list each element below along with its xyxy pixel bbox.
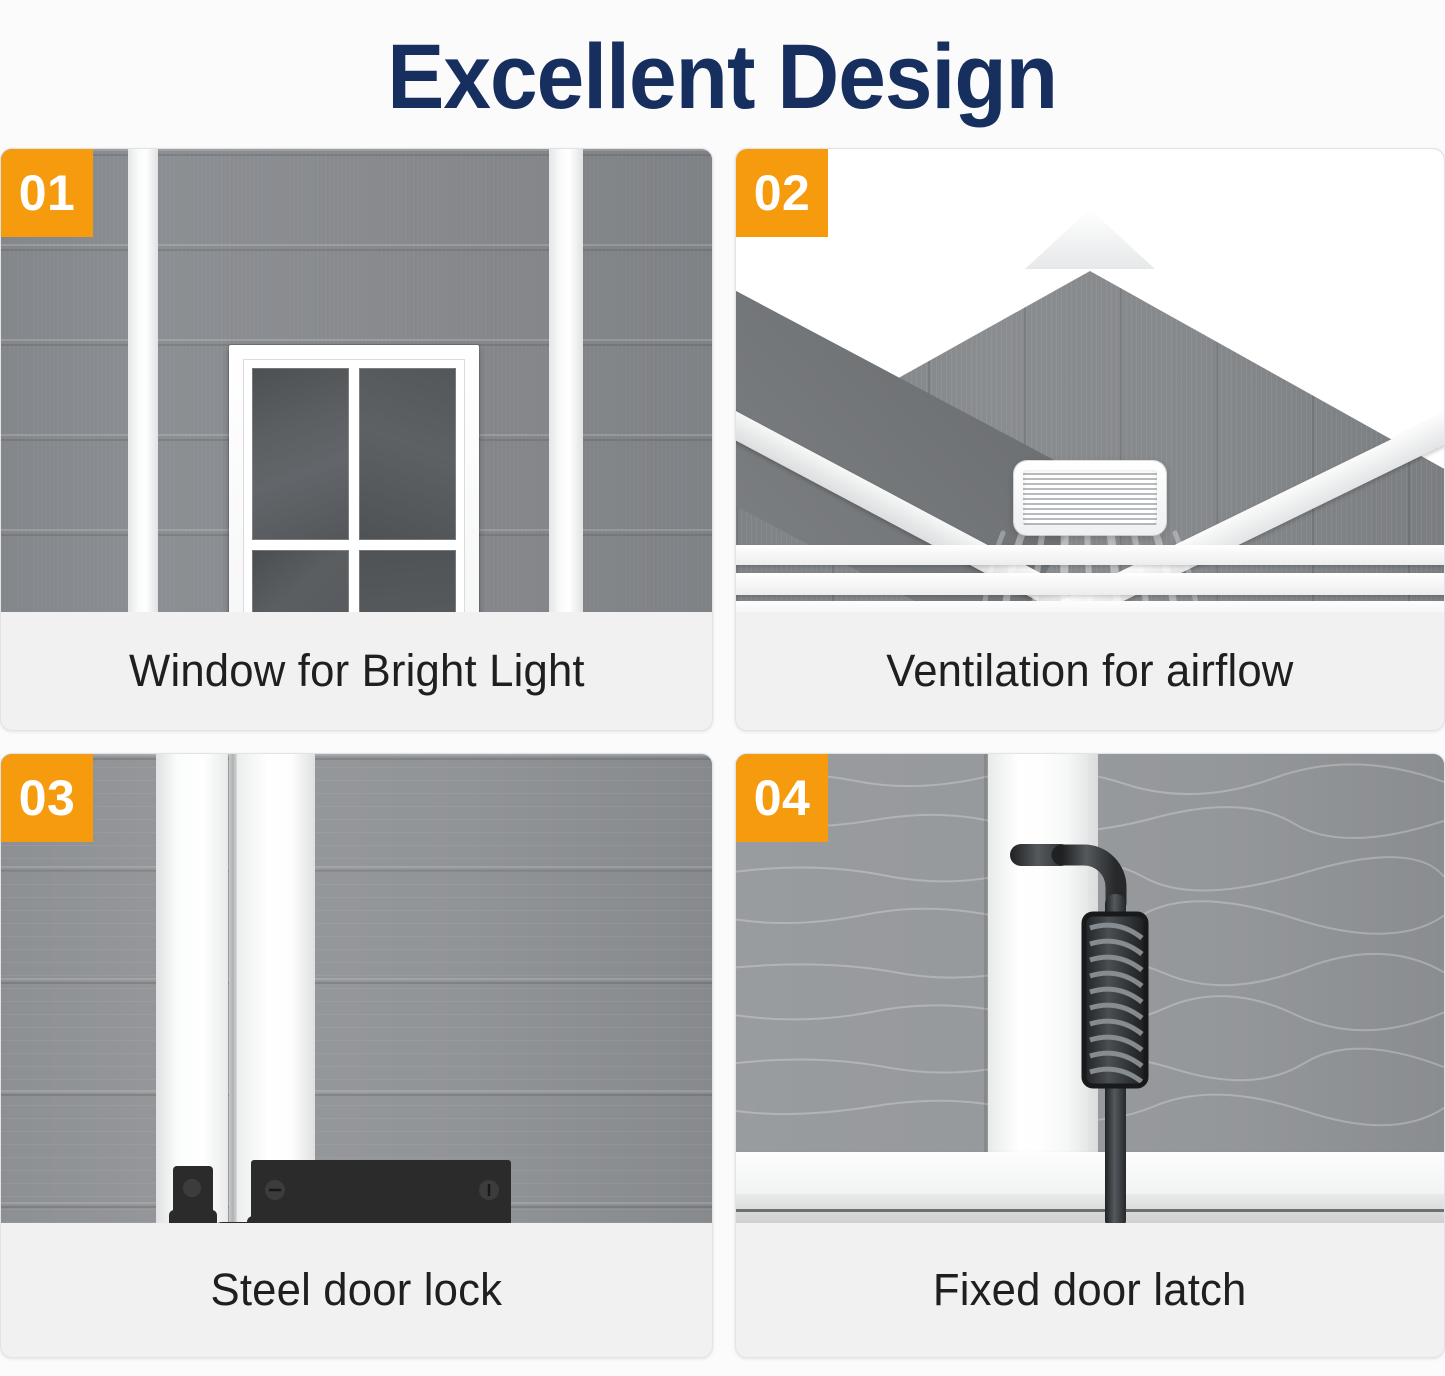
feature-card-02[interactable]: 02 Ventilation for airflow: [735, 148, 1445, 731]
card-04-photo: 04: [736, 754, 1444, 1223]
slide-bolt-lock-icon: [151, 1152, 571, 1223]
card-04-caption-text: Fixed door latch: [933, 1264, 1247, 1316]
window-pane-top-left: [252, 368, 349, 540]
card-02-caption: Ventilation for airflow: [736, 612, 1444, 730]
window-sash: [243, 359, 465, 612]
wall-trim-band-lower: [736, 573, 1444, 595]
card-01-photo: 01: [1, 149, 712, 612]
card-03-caption: Steel door lock: [1, 1223, 712, 1357]
white-trim-strip-right: [549, 149, 583, 612]
badge-number-04: 04: [736, 754, 828, 842]
badge-number-01: 01: [1, 149, 93, 237]
spring-door-latch-icon: [1004, 832, 1204, 1223]
card-02-photo: 02: [736, 149, 1444, 612]
card-04-caption: Fixed door latch: [736, 1223, 1444, 1357]
page-title-container: Excellent Design: [0, 0, 1445, 148]
shed-window: [229, 345, 479, 612]
badge-number-02: 02: [736, 149, 828, 237]
card-02-caption-text: Ventilation for airflow: [886, 645, 1293, 697]
white-trim-strip-left: [128, 149, 158, 612]
feature-card-grid: 01 Window for Bright Light: [0, 148, 1445, 1358]
page-title: Excellent Design: [388, 31, 1058, 123]
badge-number-03: 03: [1, 754, 93, 842]
ventilation-vent: [1014, 461, 1166, 535]
feature-card-01[interactable]: 01 Window for Bright Light: [0, 148, 713, 731]
vent-louvers: [1023, 470, 1157, 526]
card-01-caption-text: Window for Bright Light: [129, 645, 585, 697]
feature-card-03[interactable]: 03 Steel door lock: [0, 753, 713, 1358]
wall-trim-band-upper: [736, 545, 1444, 565]
feature-card-04[interactable]: 04 Fixed door latch: [735, 753, 1445, 1358]
card-01-caption: Window for Bright Light: [1, 612, 712, 730]
airflow-streaks-icon: [965, 527, 1215, 612]
window-pane-bottom-left: [252, 550, 349, 612]
window-pane-top-right: [359, 368, 456, 540]
card-03-photo: 03: [1, 754, 712, 1223]
window-pane-bottom-right: [359, 550, 456, 612]
card-03-caption-text: Steel door lock: [211, 1264, 503, 1316]
infographic-page: Excellent Design 01 Window: [0, 0, 1445, 1376]
door-panels-row: [736, 601, 1444, 612]
